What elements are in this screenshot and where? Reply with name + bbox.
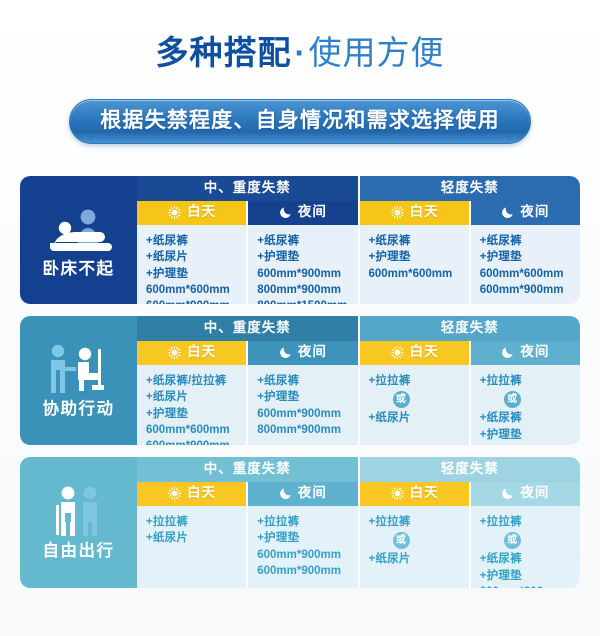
or-badge: 或 <box>504 532 521 549</box>
product-line: +拉拉裤 <box>480 373 571 389</box>
product-line: 600mm*600mm <box>146 422 237 438</box>
table-row: 协助行动中、重度失禁轻度失禁白天夜间白天夜间+纸尿裤/拉拉裤+纸尿片+护理垫60… <box>20 316 580 445</box>
product-line: 600mm*600mm <box>369 266 460 282</box>
subtitle-banner: 根据失禁程度、自身情况和需求选择使用 <box>69 99 531 144</box>
time-header-row: 白天夜间白天夜间 <box>137 482 580 506</box>
severity-grid: 中、重度失禁轻度失禁白天夜间白天夜间+拉拉裤+纸尿片+拉拉裤+护理垫600mm*… <box>137 457 580 588</box>
group-header-severe: 中、重度失禁 <box>137 457 358 482</box>
product-line: +护理垫 <box>369 249 460 265</box>
or-badge: 或 <box>393 391 410 408</box>
product-cell-severe-day: +拉拉裤+纸尿片 <box>137 506 246 588</box>
product-cell-mild-night: +拉拉裤或+纸尿裤+护理垫600mm*900mm <box>469 365 580 445</box>
comparison-table: 卧床不起中、重度失禁轻度失禁白天夜间白天夜间+纸尿裤+纸尿片+护理垫600mm*… <box>20 176 580 600</box>
product-line: 800mm*900mm <box>257 422 348 438</box>
sun-icon <box>167 345 182 360</box>
product-line: +纸尿裤 <box>369 233 460 249</box>
infographic-page: 多种搭配·使用方便 根据失禁程度、自身情况和需求选择使用 卧床不起中、重度失禁轻… <box>0 0 600 636</box>
moon-icon <box>279 486 293 501</box>
sun-icon <box>167 486 182 501</box>
product-line: +纸尿片 <box>369 551 460 567</box>
time-header-label: 夜间 <box>520 345 549 360</box>
product-line: +纸尿裤 <box>480 410 571 426</box>
page-title: 多种搭配·使用方便 <box>0 36 600 69</box>
product-cell-mild-night: +拉拉裤或+纸尿裤+护理垫600mm*900mm <box>469 506 580 588</box>
product-line: +护理垫 <box>480 249 571 265</box>
time-header-label: 夜间 <box>298 205 327 220</box>
product-line: +拉拉裤 <box>146 514 237 530</box>
product-line: +纸尿裤 <box>480 551 571 567</box>
time-header-severe-day: 白天 <box>137 482 246 506</box>
or-badge: 或 <box>393 532 410 549</box>
product-line: +纸尿片 <box>146 389 237 405</box>
category-panel-2: 协助行动 <box>20 316 137 445</box>
time-header-label: 夜间 <box>298 345 327 360</box>
sun-icon <box>390 205 405 220</box>
product-cell-severe-day: +纸尿裤/拉拉裤+纸尿片+护理垫600mm*600mm600mm*900mm <box>137 365 246 445</box>
time-header-severe-night: 夜间 <box>246 482 357 506</box>
product-cell-mild-day: +拉拉裤或+纸尿片 <box>358 506 469 588</box>
product-line: +护理垫 <box>257 249 348 265</box>
product-cell-mild-day: +纸尿裤+护理垫600mm*600mm <box>358 225 469 304</box>
table-row: 自由出行中、重度失禁轻度失禁白天夜间白天夜间+拉拉裤+纸尿片+拉拉裤+护理垫60… <box>20 457 580 588</box>
time-header-label: 夜间 <box>520 205 549 220</box>
free-walking-icon <box>44 481 114 537</box>
group-header-row: 中、重度失禁轻度失禁 <box>137 176 580 201</box>
product-line: +护理垫 <box>146 266 237 282</box>
product-line: +纸尿裤 <box>146 233 237 249</box>
time-header-label: 白天 <box>187 205 216 220</box>
product-line: +护理垫 <box>480 427 571 443</box>
group-header-row: 中、重度失禁轻度失禁 <box>137 457 580 482</box>
product-line: +护理垫 <box>480 568 571 584</box>
product-line: 600mm*900mm <box>480 584 571 588</box>
page-title-strong: 多种搭配 <box>156 34 292 71</box>
category-panel-3: 自由出行 <box>20 457 137 588</box>
product-line: +纸尿片 <box>146 249 237 265</box>
product-cell-severe-night: +拉拉裤+护理垫600mm*900mm600mm*900mm <box>246 506 357 588</box>
time-header-label: 夜间 <box>520 486 549 501</box>
product-line: +纸尿裤/拉拉裤 <box>146 373 237 389</box>
product-line: +拉拉裤 <box>369 514 460 530</box>
moon-icon <box>501 205 515 220</box>
product-cell-severe-night: +纸尿裤+护理垫600mm*900mm800mm*900mm800mm*1500… <box>246 225 357 304</box>
sun-icon <box>390 486 405 501</box>
time-header-label: 白天 <box>410 486 439 501</box>
time-header-label: 夜间 <box>298 486 327 501</box>
product-line: +拉拉裤 <box>257 514 348 530</box>
subtitle-banner-wrap: 根据失禁程度、自身情况和需求选择使用 <box>0 99 600 144</box>
product-line: 600mm*900mm <box>480 282 571 298</box>
product-line: 600mm*600mm <box>146 282 237 298</box>
time-header-mild-day: 白天 <box>358 341 469 365</box>
assisted-mobility-icon <box>42 339 116 395</box>
product-line: +纸尿裤 <box>480 233 571 249</box>
sun-icon <box>390 345 405 360</box>
category-panel-1: 卧床不起 <box>20 176 137 304</box>
product-cell-mild-day: +拉拉裤或+纸尿片 <box>358 365 469 445</box>
time-header-severe-day: 白天 <box>137 341 246 365</box>
time-header-severe-night: 夜间 <box>246 341 357 365</box>
moon-icon <box>279 205 293 220</box>
product-line: 600mm*900mm <box>146 438 237 445</box>
group-header-row: 中、重度失禁轻度失禁 <box>137 316 580 341</box>
time-header-mild-day: 白天 <box>358 482 469 506</box>
product-line: 600mm*900mm <box>146 298 237 304</box>
product-line: 600mm*900mm <box>257 563 348 579</box>
time-header-mild-night: 夜间 <box>469 482 580 506</box>
product-cells-row: +拉拉裤+纸尿片+拉拉裤+护理垫600mm*900mm600mm*900mm+拉… <box>137 506 580 588</box>
category-label: 协助行动 <box>43 401 115 418</box>
time-header-severe-day: 白天 <box>137 201 246 225</box>
product-line: +纸尿片 <box>369 410 460 426</box>
product-line: +护理垫 <box>146 406 237 422</box>
product-cell-severe-night: +纸尿裤+护理垫600mm*900mm800mm*900mm <box>246 365 357 445</box>
product-line: +护理垫 <box>257 389 348 405</box>
product-cells-row: +纸尿裤+纸尿片+护理垫600mm*600mm600mm*900mm+纸尿裤+护… <box>137 225 580 304</box>
product-line: +纸尿裤 <box>257 373 348 389</box>
time-header-label: 白天 <box>410 205 439 220</box>
product-line: 600mm*600mm <box>480 266 571 282</box>
page-title-separator: · <box>295 34 306 71</box>
product-line: 600mm*900mm <box>480 443 571 445</box>
time-header-mild-night: 夜间 <box>469 341 580 365</box>
table-row: 卧床不起中、重度失禁轻度失禁白天夜间白天夜间+纸尿裤+纸尿片+护理垫600mm*… <box>20 176 580 304</box>
product-line: +纸尿裤 <box>257 233 348 249</box>
group-header-mild: 轻度失禁 <box>358 316 581 341</box>
bedridden-person-icon <box>42 199 116 255</box>
time-header-label: 白天 <box>410 345 439 360</box>
moon-icon <box>501 345 515 360</box>
or-badge: 或 <box>504 391 521 408</box>
category-label: 自由出行 <box>43 543 115 560</box>
product-line: +拉拉裤 <box>480 514 571 530</box>
product-line: +拉拉裤 <box>369 373 460 389</box>
severity-grid: 中、重度失禁轻度失禁白天夜间白天夜间+纸尿裤/拉拉裤+纸尿片+护理垫600mm*… <box>137 316 580 445</box>
product-line: +纸尿片 <box>146 530 237 546</box>
sun-icon <box>167 205 182 220</box>
time-header-row: 白天夜间白天夜间 <box>137 341 580 365</box>
product-cells-row: +纸尿裤/拉拉裤+纸尿片+护理垫600mm*600mm600mm*900mm+纸… <box>137 365 580 445</box>
product-line: +护理垫 <box>257 530 348 546</box>
time-header-mild-day: 白天 <box>358 201 469 225</box>
product-line: 800mm*1500mm <box>257 298 348 304</box>
time-header-row: 白天夜间白天夜间 <box>137 201 580 225</box>
time-header-severe-night: 夜间 <box>246 201 357 225</box>
product-line: 800mm*900mm <box>257 282 348 298</box>
page-title-light: 使用方便 <box>309 34 445 71</box>
severity-grid: 中、重度失禁轻度失禁白天夜间白天夜间+纸尿裤+纸尿片+护理垫600mm*600m… <box>137 176 580 304</box>
time-header-label: 白天 <box>187 486 216 501</box>
product-line: 600mm*900mm <box>257 406 348 422</box>
category-label: 卧床不起 <box>43 261 115 278</box>
time-header-mild-night: 夜间 <box>469 201 580 225</box>
product-cell-severe-day: +纸尿裤+纸尿片+护理垫600mm*600mm600mm*900mm <box>137 225 246 304</box>
group-header-mild: 轻度失禁 <box>358 457 581 482</box>
moon-icon <box>279 345 293 360</box>
group-header-severe: 中、重度失禁 <box>137 316 358 341</box>
moon-icon <box>501 486 515 501</box>
product-line: 600mm*900mm <box>257 266 348 282</box>
group-header-mild: 轻度失禁 <box>358 176 581 201</box>
time-header-label: 白天 <box>187 345 216 360</box>
group-header-severe: 中、重度失禁 <box>137 176 358 201</box>
product-line: 600mm*900mm <box>257 547 348 563</box>
product-cell-mild-night: +纸尿裤+护理垫600mm*600mm600mm*900mm <box>469 225 580 304</box>
